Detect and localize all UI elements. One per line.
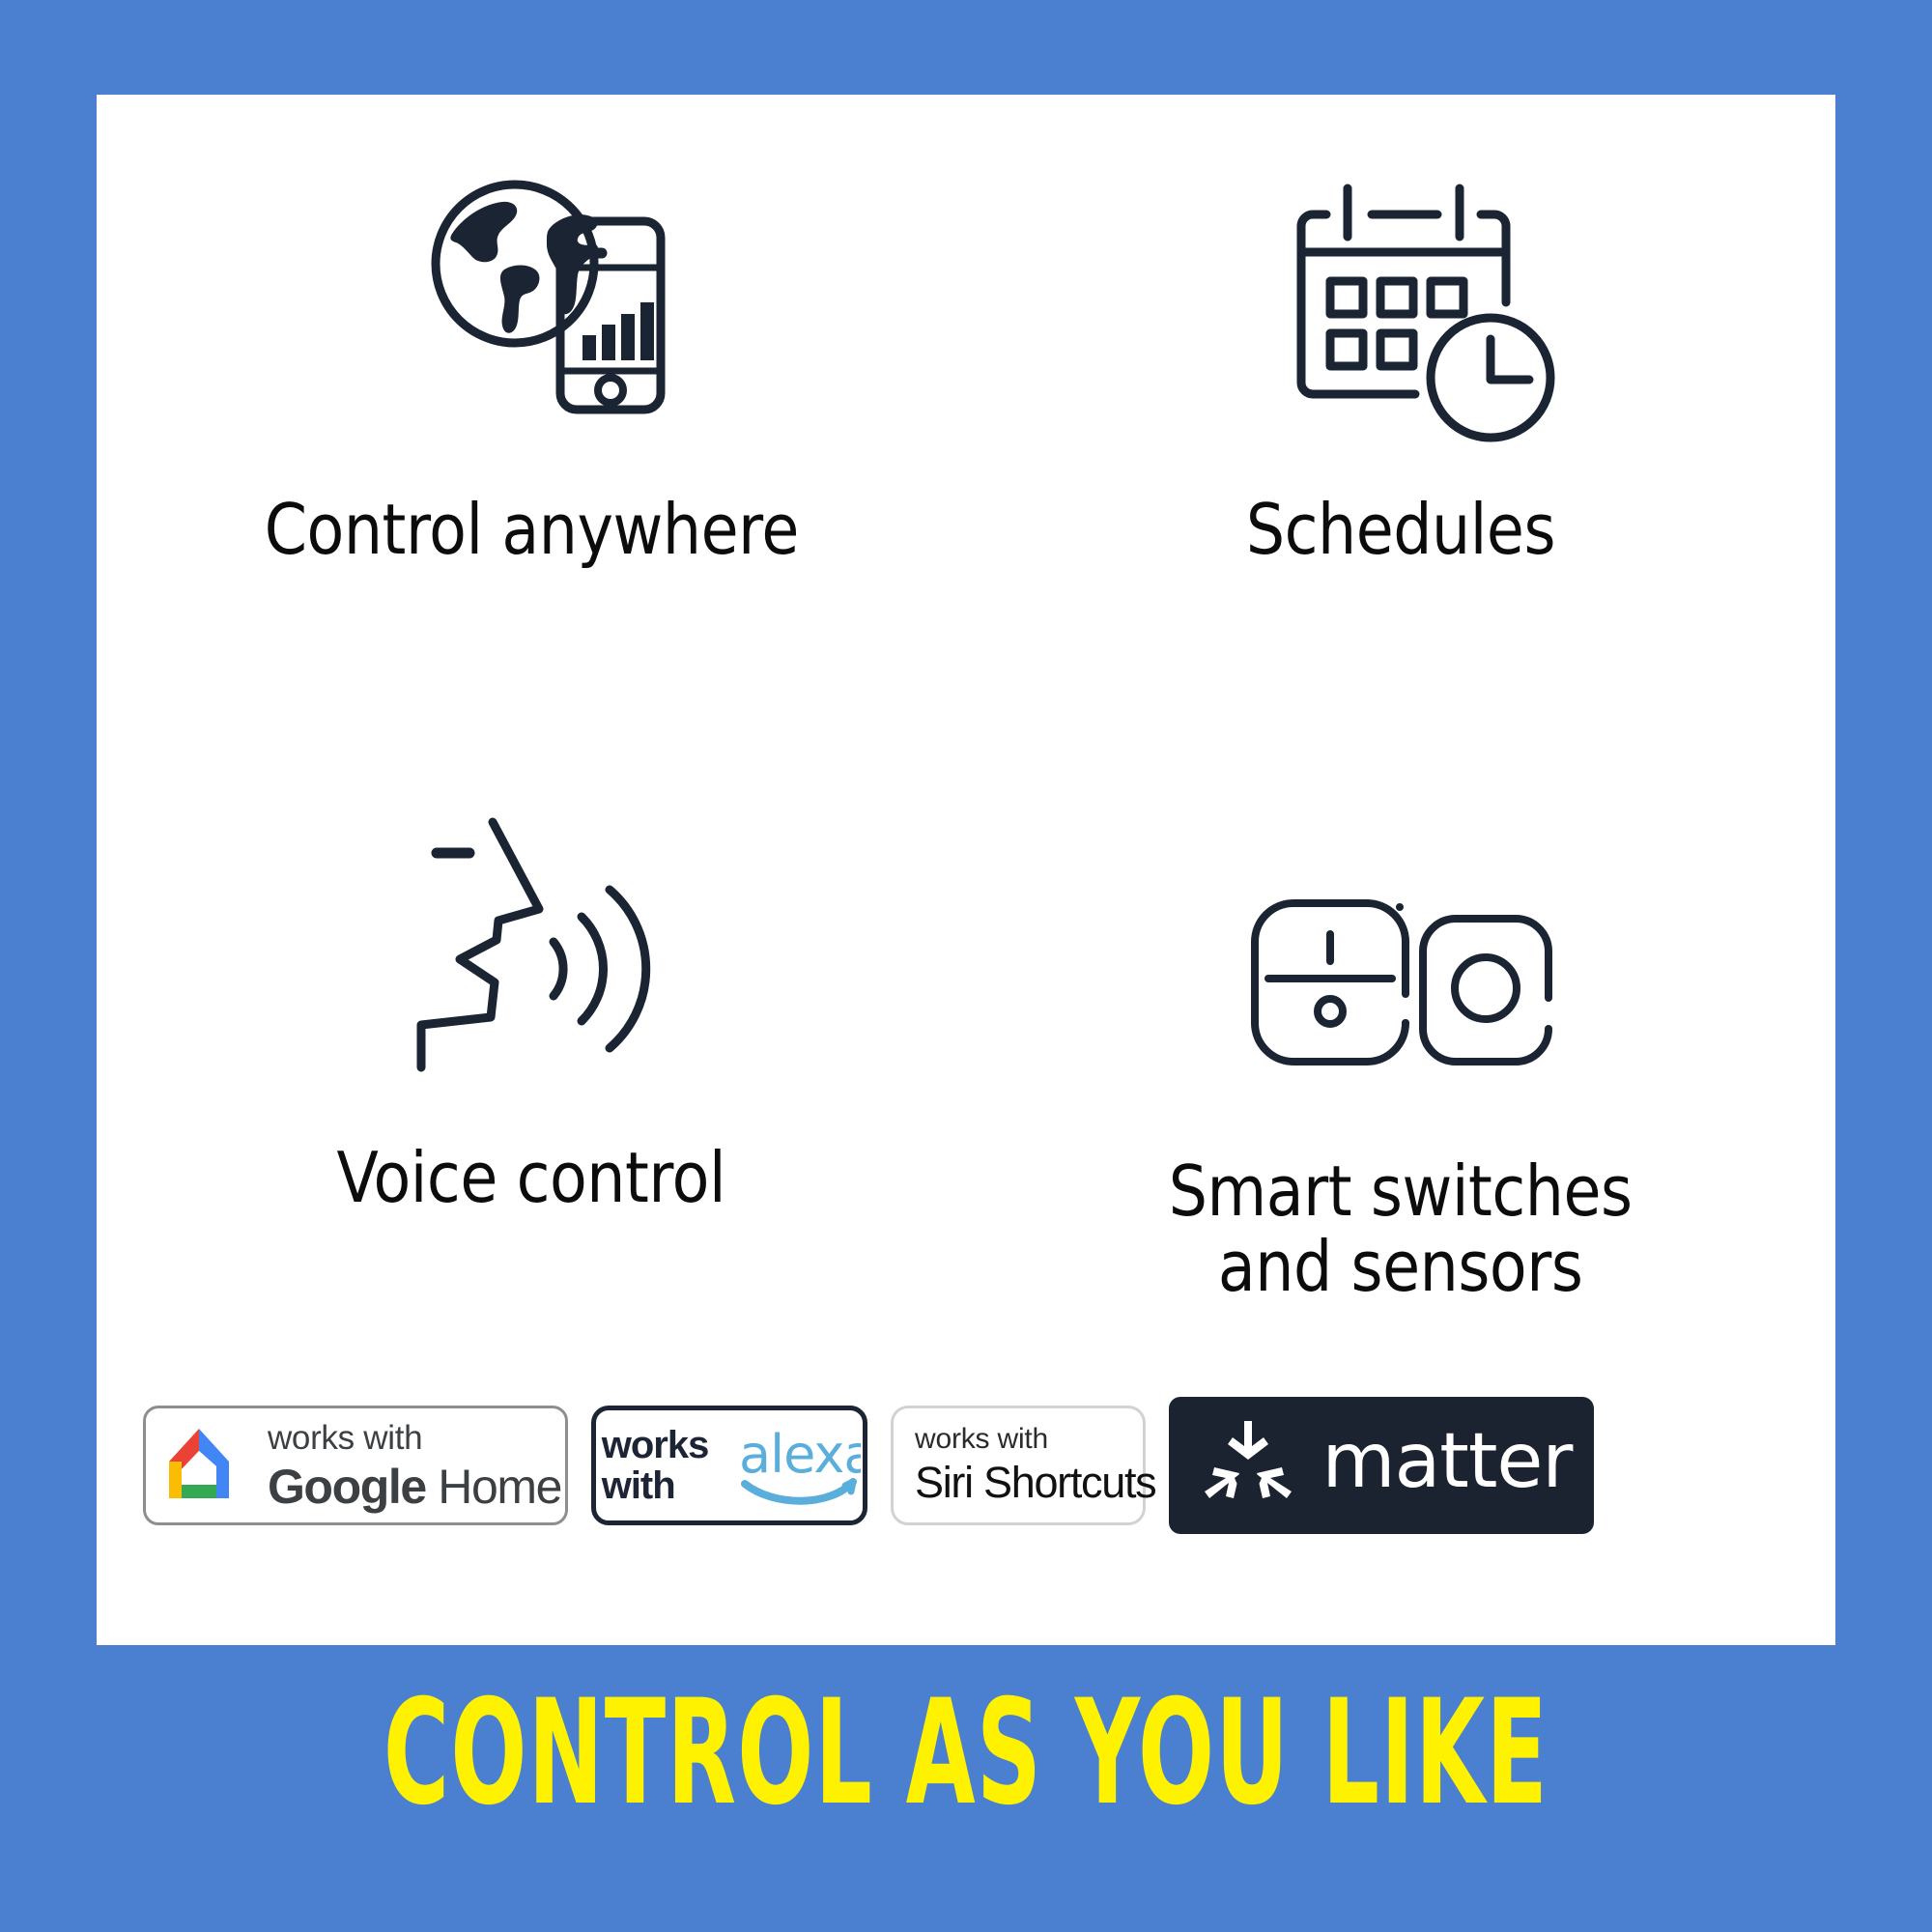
content-card: Control anywhere	[97, 95, 1835, 1645]
alexa-works-with-text: works with	[584, 1425, 723, 1506]
badge-siri-shortcuts[interactable]: works with Siri Shortcuts	[891, 1406, 1146, 1525]
google-home-house-icon	[156, 1423, 242, 1508]
feature-control-anywhere: Control anywhere	[97, 153, 966, 776]
feature-label-line2: and sensors	[1218, 1226, 1582, 1307]
globe-phone-icon	[367, 153, 696, 471]
speaking-head-icon	[386, 776, 676, 1104]
badge-google-home[interactable]: works with Google Home	[143, 1406, 568, 1525]
home-wordmark: Home	[438, 1460, 561, 1514]
feature-voice-control: Voice control	[97, 776, 966, 1399]
siri-works-with-label: works with	[915, 1423, 1048, 1456]
google-home-text: works with Google Home	[268, 1421, 561, 1511]
calendar-clock-icon	[1241, 153, 1560, 471]
siri-shortcuts-wordmark: Siri Shortcuts	[915, 1458, 1155, 1508]
google-wordmark: Google	[268, 1460, 426, 1514]
feature-label: Smart switches and sensors	[1169, 1154, 1633, 1305]
feature-label: Schedules	[1246, 493, 1555, 568]
google-works-with-label: works with	[268, 1421, 561, 1455]
feature-label-line1: Smart switches	[1169, 1151, 1633, 1232]
amazon-alexa-smile-icon: alexa	[722, 1424, 874, 1507]
compatibility-badges: works with Google Home works with alexa	[143, 1404, 1799, 1527]
headline-control-as-you-like: CONTROL AS YOU LIKE	[367, 1681, 1565, 1826]
poster-root: Control anywhere	[0, 0, 1932, 1932]
feature-label: Control anywhere	[264, 493, 798, 568]
badge-matter[interactable]: matter	[1169, 1397, 1594, 1534]
matter-logo-icon	[1204, 1417, 1293, 1514]
google-home-wordmark: Google Home	[268, 1463, 561, 1511]
alexa-works-line2: with	[602, 1464, 675, 1507]
badge-alexa[interactable]: works with alexa	[591, 1406, 867, 1525]
feature-smart-switches: Smart switches and sensors	[966, 776, 1835, 1399]
feature-schedules: Schedules	[966, 153, 1835, 776]
feature-label: Voice control	[337, 1141, 726, 1216]
switch-sensor-icon	[1212, 776, 1589, 1123]
alexa-works-line1: works	[602, 1424, 709, 1466]
matter-wordmark: matter	[1321, 1424, 1572, 1499]
svg-text:alexa: alexa	[739, 1424, 861, 1485]
feature-grid: Control anywhere	[97, 153, 1835, 1399]
